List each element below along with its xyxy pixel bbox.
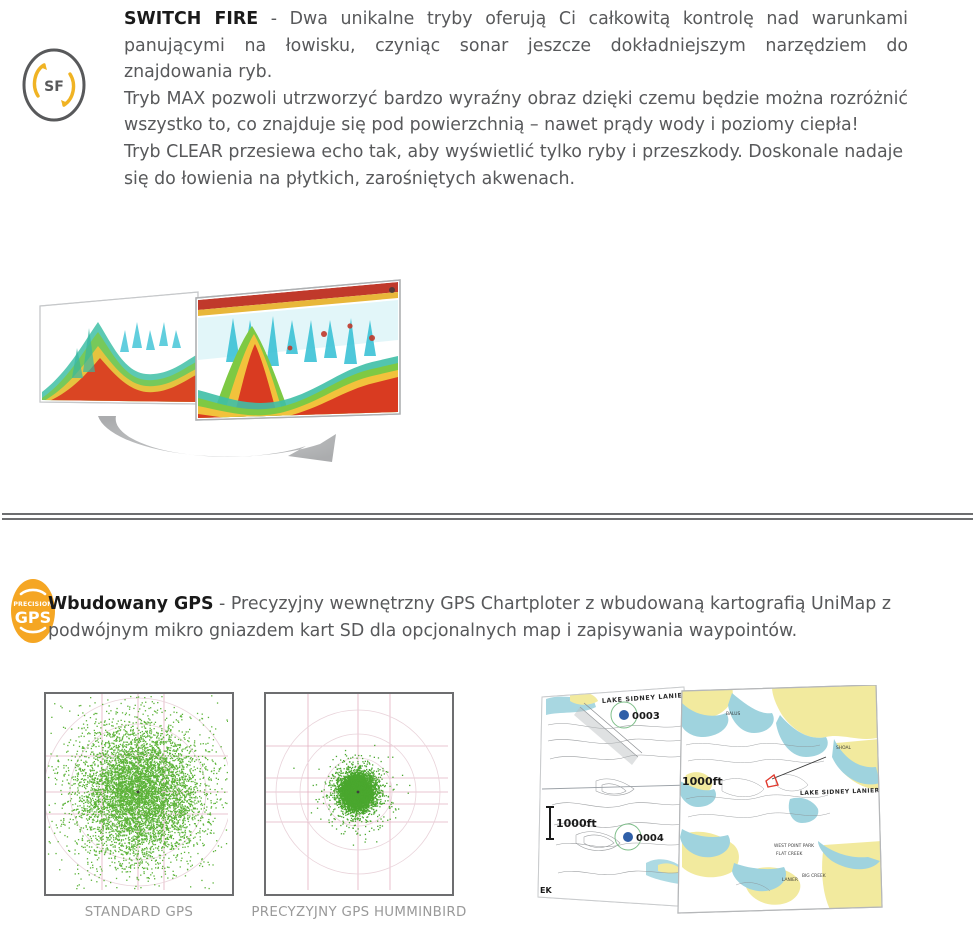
switch-fire-heading: SWITCH FIRE: [124, 9, 258, 29]
section-divider: [2, 513, 973, 519]
page-root: SF SWITCH FIRE - Dwa unikalne tryby ofer…: [0, 0, 976, 931]
contour-map-screen: 0003 0004 LAKE SIDNEY LANIER 1000ft: [536, 685, 696, 915]
scatter-points: [293, 745, 410, 846]
gps-heading: Wbudowany GPS: [48, 594, 214, 614]
waypoint-label-0003: 0003: [632, 711, 660, 722]
unimap-chart-screen: 1000ft LAKE SIDNEY LANIER WEST POINT PAR…: [676, 685, 888, 915]
switch-fire-paragraph-2: Tryb MAX pozwoli utrzworzyć bardzo wyraź…: [124, 86, 908, 139]
chartplotter-map-screens: 0003 0004 LAKE SIDNEY LANIER 1000ft: [536, 685, 976, 915]
scale-label-back: 1000ft: [556, 817, 597, 830]
sonar-screens-comparison: [28, 222, 428, 477]
standard-gps-caption: STANDARD GPS: [44, 905, 234, 920]
clear-mode-sonar-screen: [40, 287, 200, 407]
switch-fire-refresh-icon: SF: [18, 45, 90, 125]
map-edge-label: EK: [540, 886, 552, 895]
max-mode-sonar-screen: [196, 277, 402, 422]
gps-section: PRECISION GPS Wbudowany GPS - Precyzyjny…: [0, 560, 976, 931]
standard-gps-scatter: [44, 692, 234, 896]
scale-label-front: 1000ft: [682, 775, 723, 788]
switch-fire-paragraph-1: SWITCH FIRE - Dwa unikalne tryby oferują…: [124, 6, 908, 86]
precision-gps-caption: PRECYZYJNY GPS HUMMINBIRD: [234, 905, 484, 920]
waypoint-label-0004: 0004: [636, 833, 664, 844]
gps-copy: Wbudowany GPS - Precyzyjny wewnętrzny GP…: [48, 591, 912, 644]
precision-gps-plot: PRECYZYJNY GPS HUMMINBIRD: [264, 692, 484, 920]
switch-fire-copy: SWITCH FIRE - Dwa unikalne tryby oferują…: [124, 6, 908, 192]
switch-fire-badge-label: SF: [44, 79, 64, 95]
divider-rule-top: [2, 513, 973, 515]
precision-gps-badge-line1: PRECISION: [13, 601, 52, 608]
switch-fire-heading-separator: -: [258, 9, 290, 29]
switch-fire-section: SF SWITCH FIRE - Dwa unikalne tryby ofer…: [0, 0, 976, 500]
gps-heading-separator: -: [214, 594, 231, 614]
switch-fire-paragraph-3: Tryb CLEAR przesiewa echo tak, aby wyświ…: [124, 139, 908, 192]
precision-gps-badge-line2: GPS: [15, 608, 51, 627]
precision-gps-scatter: [264, 692, 454, 896]
gps-paragraph-1: Wbudowany GPS - Precyzyjny wewnętrzny GP…: [48, 591, 912, 644]
divider-rule-bottom: [2, 518, 973, 520]
standard-gps-plot: STANDARD GPS: [44, 692, 234, 920]
